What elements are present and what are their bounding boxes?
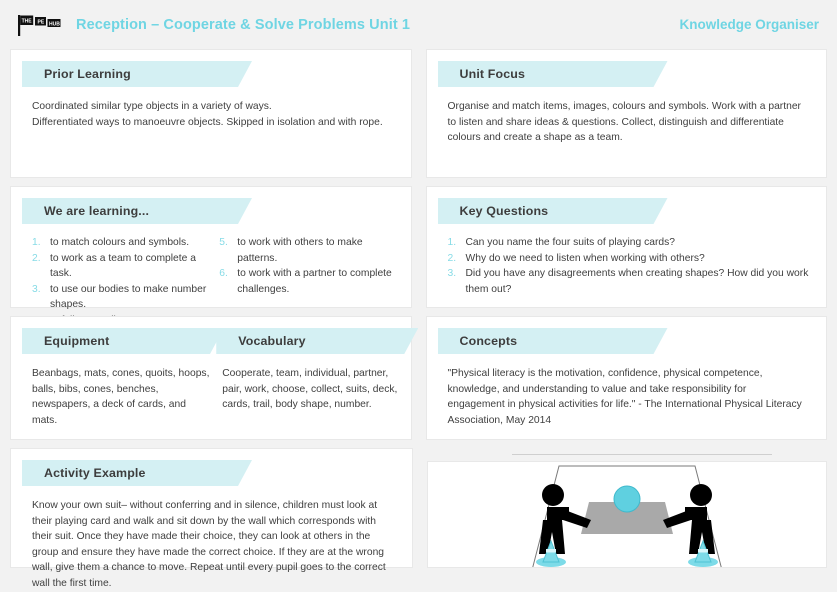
concepts-text: "Physical literacy is the motivation, co… (448, 366, 807, 428)
list-item-number: 6. (219, 266, 237, 297)
list-item: 6. to work with a partner to complete ch… (219, 266, 396, 297)
section-title-unit-focus: Unit Focus (438, 61, 668, 87)
card-prior-learning: Prior Learning Coordinated similar type … (10, 49, 412, 178)
row-activity-illustration: Activity Example Know your own suit– wit… (10, 448, 827, 568)
svg-text:HUB: HUB (49, 21, 60, 27)
ribbon-container: Key Questions (427, 187, 827, 224)
card-unit-focus: Unit Focus Organise and match items, ima… (426, 49, 828, 178)
illustration-divider (512, 454, 773, 455)
list-item-label: to work as a team to complete a task. (50, 251, 209, 282)
flag-logo-svg: THE PE HUB (16, 12, 64, 38)
row-equipment-vocabulary-concepts: Equipment Vocabulary Beanbags, mats, con… (10, 316, 827, 440)
ribbon-container: We are learning... (11, 187, 411, 224)
key-questions-column: 1. Can you name the four suits of playin… (448, 235, 813, 297)
card-we-are-learning: We are learning... 1. to match colours a… (10, 186, 412, 308)
unit-focus-body: Organise and match items, images, colour… (427, 87, 827, 146)
list-item: 3. Did you have any disagreements when c… (448, 266, 813, 297)
ribbon-container: Prior Learning (11, 50, 411, 87)
list-item-label: Why do we need to listen when working wi… (466, 251, 813, 267)
list-item: 1. Can you name the four suits of playin… (448, 235, 813, 251)
ball-icon (614, 486, 640, 512)
card-activity-example: Activity Example Know your own suit– wit… (10, 448, 413, 568)
list-item-number: 2. (448, 251, 466, 267)
list-item: 5. to work with others to make patterns. (219, 235, 396, 266)
prior-learning-line-2: Differentiated ways to manoeuvre objects… (32, 115, 391, 131)
section-title-we-are-learning: We are learning... (22, 198, 252, 224)
card-illustration (427, 448, 828, 568)
list-item-label: Can you name the four suits of playing c… (466, 235, 813, 251)
we-are-learning-column-left: 1. to match colours and symbols. 2. to w… (32, 235, 209, 329)
section-title-concepts: Concepts (438, 328, 668, 354)
section-title-activity-example: Activity Example (22, 460, 252, 486)
we-are-learning-list: 1. to match colours and symbols. 2. to w… (11, 224, 411, 329)
equipment-ribbon-slot: Equipment (22, 328, 216, 354)
card-concepts: Concepts "Physical literacy is the motiv… (426, 316, 828, 440)
list-item-label: to work with others to make patterns. (237, 235, 396, 266)
activity-example-body: Know your own suit– without conferring a… (11, 486, 412, 592)
unit-focus-text: Organise and match items, images, colour… (448, 99, 807, 146)
card-equipment-vocabulary: Equipment Vocabulary Beanbags, mats, con… (10, 316, 412, 440)
key-questions-list: 1. Can you name the four suits of playin… (427, 224, 827, 297)
list-item-number: 5. (219, 235, 237, 266)
section-title-equipment: Equipment (22, 328, 224, 354)
equipment-vocabulary-body: Beanbags, mats, cones, quoits, hoops, ba… (11, 354, 411, 428)
svg-text:THE: THE (22, 18, 33, 24)
we-are-learning-column-right: 5. to work with others to make patterns.… (219, 235, 396, 329)
section-title-key-questions: Key Questions (438, 198, 668, 224)
the-pe-hub-flag-logo: THE PE HUB (16, 12, 64, 38)
vocabulary-text: Cooperate, team, individual, partner, pa… (222, 366, 400, 413)
list-item-number: 1. (32, 235, 50, 251)
list-item-number: 1. (448, 235, 466, 251)
list-item: 3. to use our bodies to make number shap… (32, 282, 209, 313)
list-item: 2. to work as a team to complete a task. (32, 251, 209, 282)
page-header: THE PE HUB Reception – Cooperate & Solve… (0, 0, 837, 49)
list-item-label: to use our bodies to make number shapes. (50, 282, 209, 313)
list-item: 2. Why do we need to listen when working… (448, 251, 813, 267)
knowledge-organiser-board: Prior Learning Coordinated similar type … (0, 49, 837, 568)
list-item-number: 2. (32, 251, 50, 282)
ribbon-container: Activity Example (11, 449, 412, 486)
activity-diagram (507, 462, 747, 568)
list-item-label: to work with a partner to complete chall… (237, 266, 396, 297)
equipment-body: Beanbags, mats, cones, quoits, hoops, ba… (32, 366, 210, 428)
list-item: 1. to match colours and symbols. (32, 235, 209, 251)
row-prior-learning-unit-focus: Prior Learning Coordinated similar type … (10, 49, 827, 178)
vocabulary-body: Cooperate, team, individual, partner, pa… (222, 366, 400, 428)
list-item-label: Did you have any disagreements when crea… (466, 266, 813, 297)
ribbon-container: Unit Focus (427, 50, 827, 87)
list-item-number: 3. (448, 266, 466, 297)
vocabulary-ribbon-slot: Vocabulary (216, 328, 410, 354)
prior-learning-body: Coordinated similar type objects in a va… (11, 87, 411, 130)
row-learning-key-questions: We are learning... 1. to match colours a… (10, 186, 827, 308)
prior-learning-line-1: Coordinated similar type objects in a va… (32, 99, 391, 115)
ribbon-container: Concepts (427, 317, 827, 354)
activity-example-text: Know your own suit– without conferring a… (32, 498, 392, 592)
svg-text:PE: PE (38, 19, 45, 25)
list-item-label: to match colours and symbols. (50, 235, 209, 251)
list-item-number: 3. (32, 282, 50, 313)
illustration-frame (427, 461, 828, 568)
equipment-text: Beanbags, mats, cones, quoits, hoops, ba… (32, 366, 210, 428)
page-title: Reception – Cooperate & Solve Problems U… (76, 17, 410, 33)
card-key-questions: Key Questions 1. Can you name the four s… (426, 186, 828, 308)
concepts-body: "Physical literacy is the motivation, co… (427, 354, 827, 428)
section-title-vocabulary: Vocabulary (216, 328, 418, 354)
ribbon-container: Equipment Vocabulary (11, 317, 411, 354)
document-type-label: Knowledge Organiser (679, 17, 819, 32)
section-title-prior-learning: Prior Learning (22, 61, 252, 87)
